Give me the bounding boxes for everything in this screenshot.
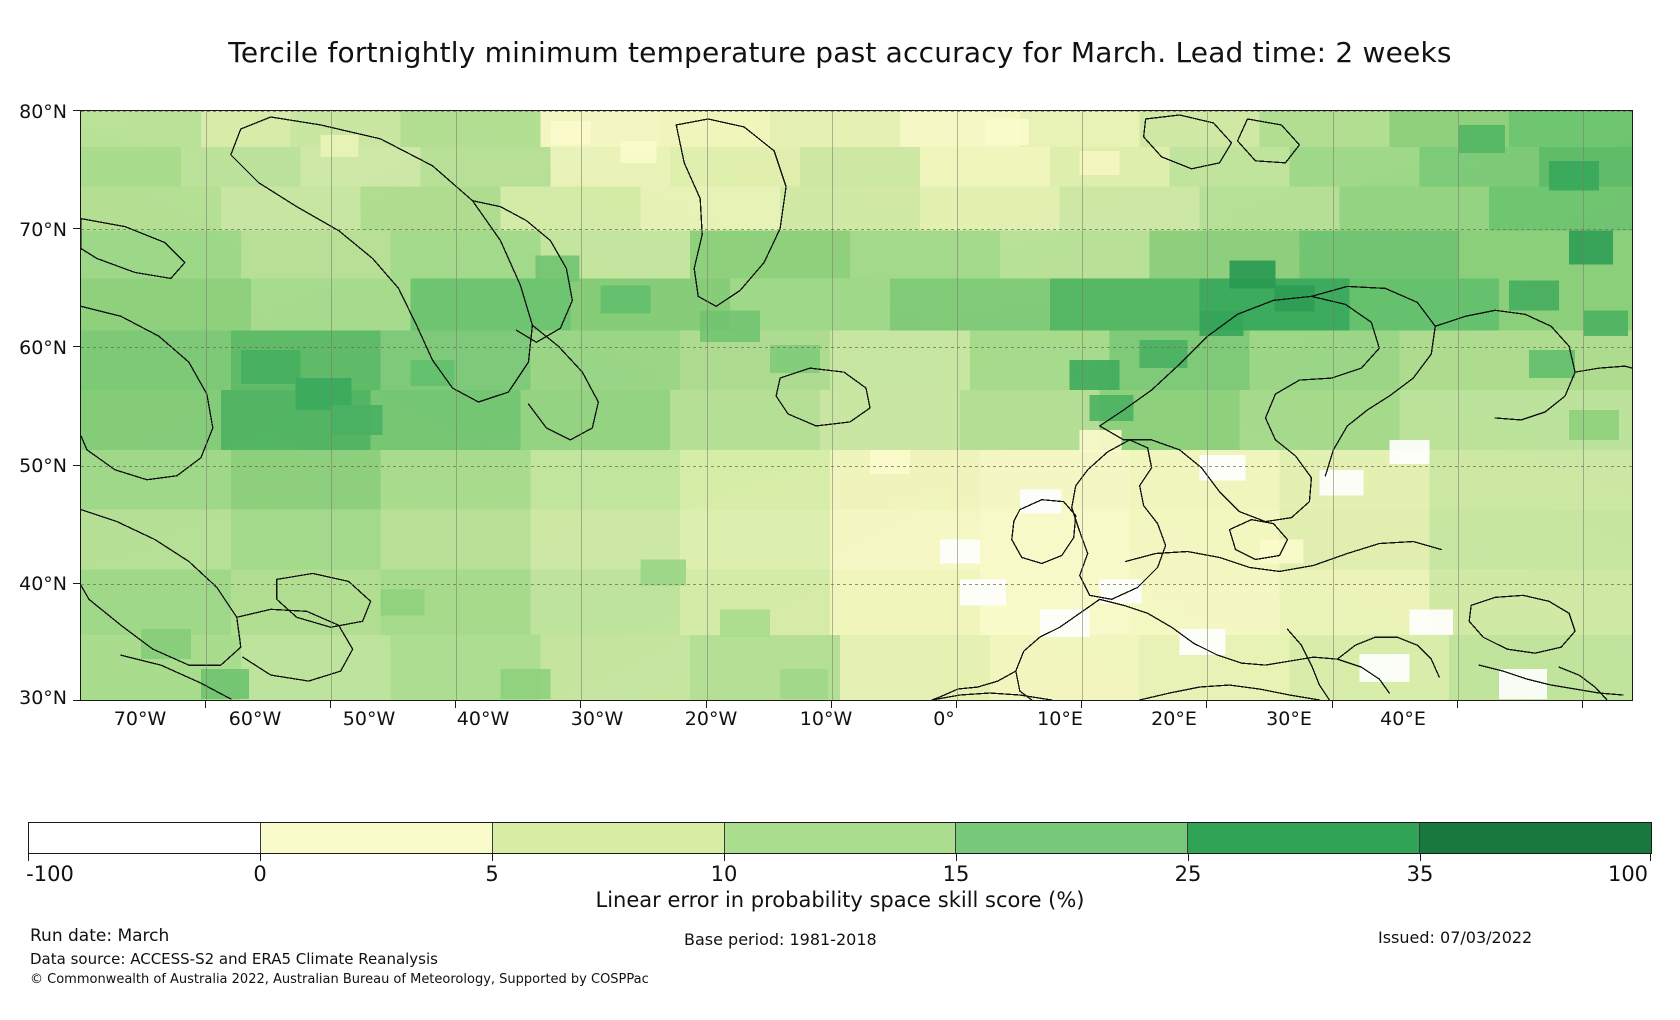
colorbar-axis-label: Linear error in probability space skill … xyxy=(0,888,1680,912)
footer-issued-date: Issued: 07/03/2022 xyxy=(1378,928,1532,947)
x-axis-label-70w: 70°W xyxy=(114,708,166,730)
x-tick xyxy=(1206,701,1207,708)
figure: Tercile fortnightly minimum temperature … xyxy=(0,0,1680,1020)
x-tick xyxy=(956,701,957,708)
colorbar-band-2 xyxy=(260,823,492,853)
y-tick xyxy=(73,465,80,466)
y-tick xyxy=(73,700,80,701)
x-axis-label-20w: 20°W xyxy=(685,708,737,730)
x-tick xyxy=(455,701,456,708)
x-tick xyxy=(831,701,832,708)
colorbar-tick-label-5: 25 xyxy=(1175,862,1202,886)
x-axis-label-50w: 50°W xyxy=(343,708,395,730)
x-axis-label-10w: 10°W xyxy=(800,708,852,730)
colorbar-tick-label-4: 15 xyxy=(943,862,970,886)
x-tick xyxy=(1457,701,1458,708)
page-title: Tercile fortnightly minimum temperature … xyxy=(0,36,1680,69)
footer-base-period: Base period: 1981-2018 xyxy=(684,930,877,949)
colorbar-tick-label-7: 100 xyxy=(1608,862,1648,886)
y-tick xyxy=(73,228,80,229)
x-tick xyxy=(580,701,581,708)
x-tick xyxy=(330,701,331,708)
y-tick xyxy=(73,110,80,111)
y-axis-label-80n: 80°N xyxy=(19,101,67,123)
footer-copyright: © Commonwealth of Australia 2022, Austra… xyxy=(30,972,649,987)
colorbar-band-5 xyxy=(955,823,1187,853)
x-axis-label-30w: 30°W xyxy=(571,708,623,730)
colorbar-ticks: -100 0 5 10 15 25 35 100 xyxy=(28,854,1652,864)
x-axis-label-0: 0° xyxy=(933,708,955,730)
map-axes[interactable] xyxy=(80,110,1633,701)
colorbar-tick-label-3: 10 xyxy=(711,862,738,886)
x-axis-label-30e: 30°E xyxy=(1266,708,1312,730)
footer-run-date: Run date: March xyxy=(30,926,169,946)
colorbar-band-3 xyxy=(492,823,724,853)
y-axis-label-30n: 30°N xyxy=(19,687,67,709)
colorbar-band-7 xyxy=(1419,823,1651,853)
x-axis-label-20e: 20°E xyxy=(1151,708,1197,730)
y-axis-label-50n: 50°N xyxy=(19,455,67,477)
colorbar[interactable] xyxy=(28,822,1652,854)
x-axis-label-10e: 10°E xyxy=(1037,708,1083,730)
y-tick xyxy=(73,346,80,347)
skill-score-heatmap xyxy=(81,111,1632,700)
colorbar-bands xyxy=(28,822,1652,854)
colorbar-tick-label-2: 5 xyxy=(485,862,498,886)
colorbar-band-6 xyxy=(1187,823,1419,853)
y-axis-label-70n: 70°N xyxy=(19,219,67,241)
colorbar-tick-label-6: 35 xyxy=(1407,862,1434,886)
x-tick xyxy=(1081,701,1082,708)
x-tick xyxy=(205,701,206,708)
footer-data-source: Data source: ACCESS-S2 and ERA5 Climate … xyxy=(30,950,438,968)
x-axis-label-40w: 40°W xyxy=(457,708,509,730)
colorbar-band-4 xyxy=(724,823,956,853)
x-tick xyxy=(706,701,707,708)
y-axis-label-60n: 60°N xyxy=(19,337,67,359)
x-axis-label-40e: 40°E xyxy=(1380,708,1426,730)
y-axis-label-40n: 40°N xyxy=(19,573,67,595)
x-axis-label-60w: 60°W xyxy=(229,708,281,730)
colorbar-band-1 xyxy=(29,823,260,853)
x-tick xyxy=(1332,701,1333,708)
x-tick xyxy=(1582,701,1583,708)
colorbar-tick-label-0: -100 xyxy=(26,862,74,886)
colorbar-tick-label-1: 0 xyxy=(253,862,266,886)
y-tick xyxy=(73,583,80,584)
